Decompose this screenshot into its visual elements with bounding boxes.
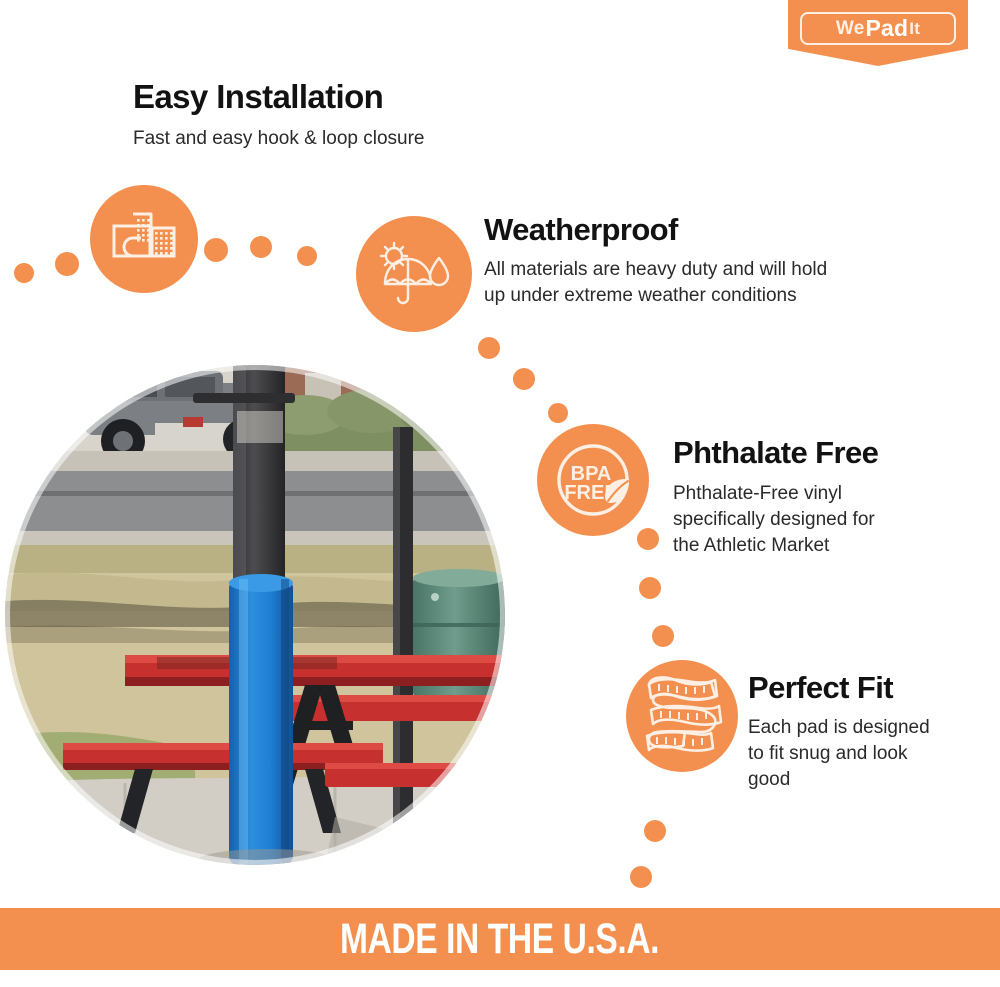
made-in-usa-banner: MADE IN THE U.S.A. <box>0 908 1000 970</box>
feature-title-weatherproof: Weatherproof <box>484 214 678 247</box>
feature-desc-easy-installation: Fast and easy hook & loop closure <box>133 126 425 152</box>
feature-title-easy-installation: Easy Installation <box>133 80 383 115</box>
icon-weatherproof <box>356 216 472 332</box>
path-dot <box>297 246 317 266</box>
pad-wrap-velcro-icon <box>111 209 177 269</box>
feature-title-phthalate-free: Phthalate Free <box>673 437 878 470</box>
path-dot <box>644 820 666 842</box>
icon-bpa-free: BPA FREE <box>537 424 649 536</box>
sun-umbrella-raindrop-icon <box>377 240 451 308</box>
path-dot <box>630 866 652 888</box>
icon-pad-wrap-velcro <box>90 185 198 293</box>
path-dot <box>250 236 272 258</box>
feature-desc-phthalate-free: Phthalate-Free vinyl specifically design… <box>673 481 875 558</box>
made-in-usa-text: MADE IN THE U.S.A. <box>340 915 659 964</box>
logo-text-pad: Pad <box>865 15 908 42</box>
path-dot <box>204 238 228 262</box>
brand-logo: We Pad It <box>788 0 968 66</box>
path-dot <box>14 263 34 283</box>
path-dot <box>639 577 661 599</box>
feature-title-perfect-fit: Perfect Fit <box>748 672 893 705</box>
measuring-tape-icon <box>639 670 725 762</box>
path-dot <box>548 403 568 423</box>
infographic-page: We Pad It Easy Installation Fast and eas… <box>0 0 1000 987</box>
product-photo <box>5 365 505 865</box>
logo-frame: We Pad It <box>800 12 956 45</box>
path-dot <box>513 368 535 390</box>
logo-text-we: We <box>836 18 865 40</box>
path-dot <box>478 337 500 359</box>
path-dot <box>55 252 79 276</box>
logo-text-it: It <box>909 19 920 39</box>
product-photo-illustration <box>5 365 505 865</box>
path-dot <box>652 625 674 647</box>
feature-desc-weatherproof: All materials are heavy duty and will ho… <box>484 257 827 309</box>
path-dot <box>637 528 659 550</box>
icon-perfect-fit <box>626 660 738 772</box>
bpa-free-leaf-icon: BPA FREE <box>547 434 639 526</box>
feature-desc-perfect-fit: Each pad is designed to fit snug and loo… <box>748 715 930 792</box>
